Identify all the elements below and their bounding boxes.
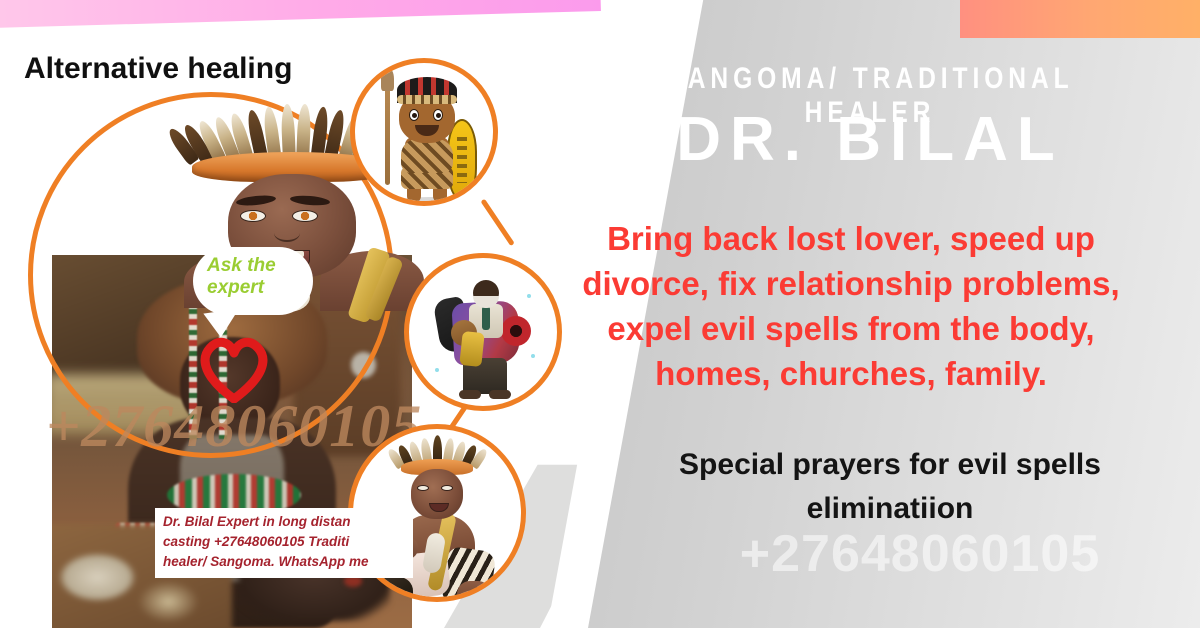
caption-line-1: Dr. Bilal Expert in long distan	[163, 512, 405, 532]
poster-canvas: Alternative healing +27648060105 Ask the…	[0, 0, 1200, 628]
caption-line-3: healer/ Sangoma. WhatsApp me	[163, 552, 405, 572]
special-line-1: Special prayers for evil spells	[600, 443, 1180, 487]
services-line-1: Bring back lost lover, speed up	[536, 216, 1166, 261]
page-title: Alternative healing	[24, 52, 292, 86]
services-line-2: divorce, fix relationship problems,	[536, 261, 1166, 306]
cartoon-zulu-warrior-icon	[355, 63, 493, 201]
special-prayers-text: Special prayers for evil spells eliminat…	[600, 443, 1180, 531]
orange-top-bar	[960, 0, 1200, 38]
special-line-2: eliminatiion	[600, 487, 1180, 531]
heart-icon	[196, 333, 272, 403]
caption-line-2: casting +27648060105 Traditi	[163, 532, 405, 552]
speech-bubble: Ask the expert	[193, 247, 313, 315]
services-text: Bring back lost lover, speed up divorce,…	[536, 216, 1166, 396]
speech-bubble-text: Ask the expert	[193, 247, 313, 315]
headline-name: DR. BILAL	[560, 104, 1180, 175]
photo-caption: Dr. Bilal Expert in long distan casting …	[155, 508, 413, 578]
services-line-3: expel evil spells from the body,	[536, 306, 1166, 351]
thumbnail-cartoon-warrior[interactable]	[350, 58, 498, 206]
robed-healer-icon	[409, 258, 557, 406]
services-line-4: homes, churches, family.	[536, 351, 1166, 396]
